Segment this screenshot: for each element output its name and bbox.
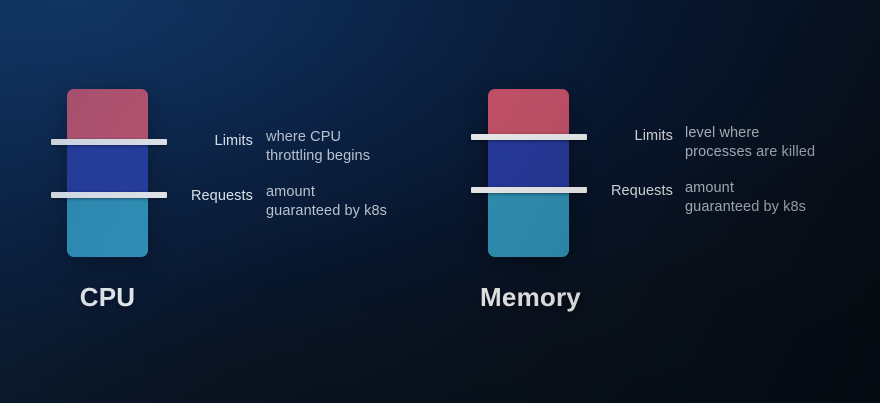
memory-limits-description-line-1: level where (685, 124, 815, 143)
memory-panel-title: Memory (420, 282, 641, 313)
cpu-requests-term-label: Requests (103, 188, 253, 204)
cpu-limits-term-label: Limits (103, 133, 253, 149)
cpu-limits-description: where CPU throttling begins (266, 128, 370, 165)
memory-limits-description: level where processes are killed (685, 124, 815, 161)
cpu-panel-title: CPU (0, 282, 215, 313)
diagram-canvas: Limits where CPU throttling begins Reque… (0, 0, 880, 403)
memory-stacked-bar (488, 89, 569, 257)
cpu-segment-requests-to-limits (67, 141, 148, 195)
memory-requests-description-line-2: guaranteed by k8s (685, 198, 806, 217)
memory-requests-description: amount guaranteed by k8s (685, 179, 806, 216)
panel-cpu: Limits where CPU throttling begins Reque… (0, 0, 440, 403)
memory-limits-description-line-2: processes are killed (685, 143, 815, 162)
memory-limits-term-label: Limits (520, 128, 673, 144)
cpu-requests-description: amount guaranteed by k8s (266, 183, 387, 220)
cpu-segment-up-to-requests (67, 195, 148, 257)
cpu-requests-description-line-2: guaranteed by k8s (266, 202, 387, 221)
cpu-limits-description-line-2: throttling begins (266, 147, 370, 166)
memory-requests-term-label: Requests (520, 183, 673, 199)
cpu-limits-description-line-1: where CPU (266, 128, 370, 147)
cpu-requests-description-line-1: amount (266, 183, 387, 202)
memory-segment-up-to-requests (488, 191, 569, 257)
memory-requests-description-line-1: amount (685, 179, 806, 198)
cpu-stacked-bar (67, 89, 148, 257)
